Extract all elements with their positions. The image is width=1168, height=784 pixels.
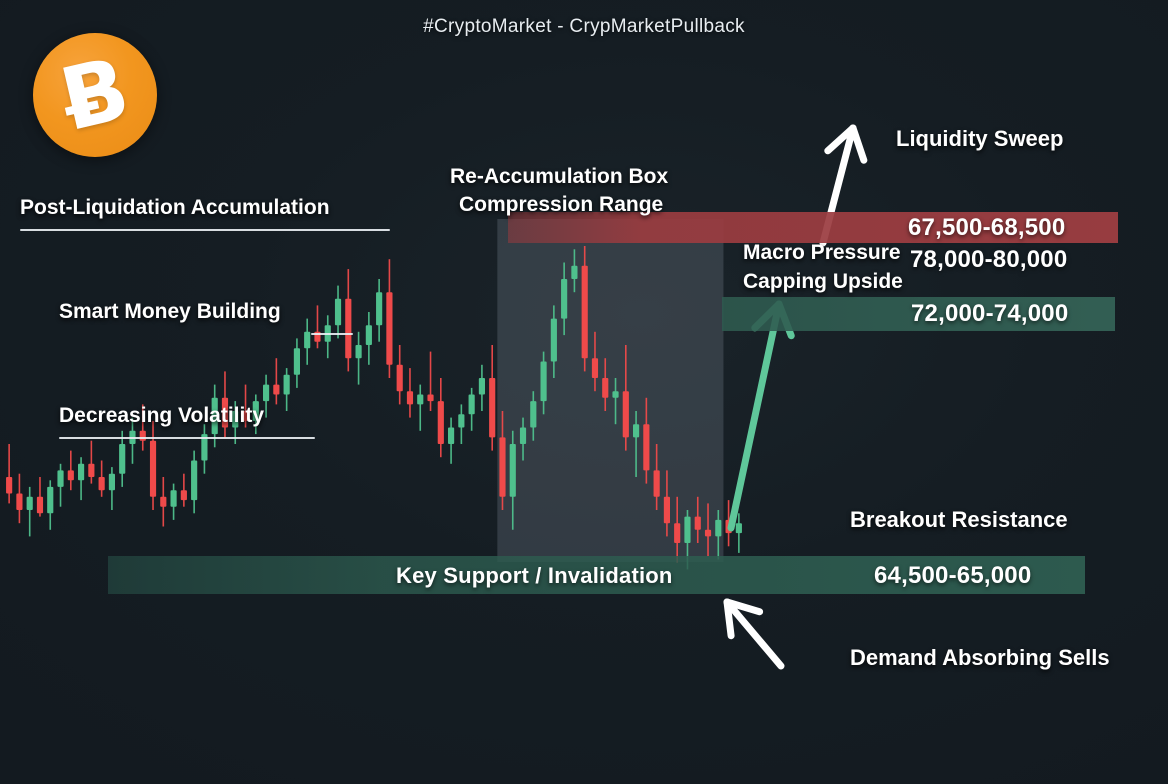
candle-body [47, 487, 53, 513]
candle-body [68, 470, 74, 480]
annotation-demand-absorbing-sells: Demand Absorbing Sells [850, 645, 1110, 671]
price-level-72000: 72,000-74,000 [911, 300, 1068, 328]
candle-body [191, 461, 197, 501]
chart-canvas: Ƀ #CryptoMarket - CrypMarketPullback 67,… [0, 0, 1168, 784]
candle-body [541, 362, 547, 402]
candle-body [171, 490, 177, 507]
candle-body [27, 497, 33, 510]
candle-body [356, 345, 362, 358]
candle-body [284, 375, 290, 395]
arrow-breakout-arrow [731, 304, 791, 528]
price-level-67500: 67,500-68,500 [908, 214, 1065, 242]
candle-body [510, 444, 516, 497]
price-level-78000: 78,000-80,000 [910, 246, 1067, 274]
candle-body [181, 490, 187, 500]
annotation-capping-upside: Capping Upside [743, 270, 903, 294]
candle-body [520, 428, 526, 445]
candle-body [448, 428, 454, 445]
candle-body [345, 299, 351, 358]
candle-body [736, 523, 742, 533]
candle-body [602, 378, 608, 398]
candle-body [438, 401, 444, 444]
candle-body [674, 523, 680, 543]
annotation-leader-smart-money-building [311, 333, 353, 335]
annotation-smart-money-building: Smart Money Building [59, 300, 281, 324]
annotation-decreasing-volatility: Decreasing Volatility [59, 404, 264, 428]
candle-body [57, 470, 63, 487]
candle-body [592, 358, 598, 378]
candle-body [304, 332, 310, 349]
candle-body [561, 279, 567, 319]
candle-body [335, 299, 341, 325]
candle-body [530, 401, 536, 427]
candle-body [489, 378, 495, 437]
candle-body [427, 395, 433, 402]
candle-body [366, 325, 372, 345]
candle-body [664, 497, 670, 523]
candle-body [571, 266, 577, 279]
candle-body [623, 391, 629, 437]
candle-body [479, 378, 485, 395]
candle-body [109, 474, 115, 491]
candle-body [582, 266, 588, 358]
annotation-post-liquidation-accumulation: Post-Liquidation Accumulation [20, 196, 330, 220]
candle-body [417, 395, 423, 405]
candle-body [458, 414, 464, 427]
candle-body [150, 441, 156, 497]
candle-body [16, 494, 22, 511]
arrow-head [727, 602, 731, 636]
arrow-demand-absorbing-arrow [727, 602, 781, 666]
annotation-compression-range: Compression Range [459, 193, 663, 217]
price-level-64500: 64,500-65,000 [874, 562, 1031, 590]
candle-body [397, 365, 403, 391]
candle-body [140, 431, 146, 441]
candle-body [160, 497, 166, 507]
candle-body [633, 424, 639, 437]
annotation-leader-decreasing-volatility [59, 437, 315, 439]
candle-body [37, 497, 43, 514]
candle-body [551, 319, 557, 362]
candle-body [612, 391, 618, 398]
candle-body [695, 517, 701, 530]
candle-body [263, 385, 269, 402]
arrow-head [853, 128, 864, 160]
candle-body [294, 348, 300, 374]
candle-body [376, 292, 382, 325]
candle-body [407, 391, 413, 404]
candle-body [386, 292, 392, 365]
candle-body [469, 395, 475, 415]
candle-body [88, 464, 94, 477]
bitcoin-logo: Ƀ [33, 33, 157, 157]
candle-body [499, 437, 505, 496]
candle-body [643, 424, 649, 470]
candle-body [119, 444, 125, 474]
candle-body [273, 385, 279, 395]
candle-body [654, 470, 660, 496]
candle-body [99, 477, 105, 490]
candle-body [78, 464, 84, 481]
annotation-macro-pressure: Macro Pressure [743, 241, 901, 265]
key-support-band-label: Key Support / Invalidation [396, 563, 673, 589]
annotation-re-accumulation-box: Re-Accumulation Box [450, 165, 668, 189]
arrow-shaft [731, 304, 779, 528]
candle-body [6, 477, 12, 494]
candle-body [715, 520, 721, 537]
candle-body [705, 530, 711, 537]
candle-body [684, 517, 690, 543]
annotation-leader-post-liquidation-accumulation [20, 229, 390, 231]
annotation-liquidity-sweep: Liquidity Sweep [896, 126, 1063, 152]
compression-box [497, 219, 723, 562]
page-title: #CryptoMarket - CrypMarketPullback [0, 16, 1168, 38]
annotation-breakout-resistance: Breakout Resistance [850, 507, 1068, 533]
